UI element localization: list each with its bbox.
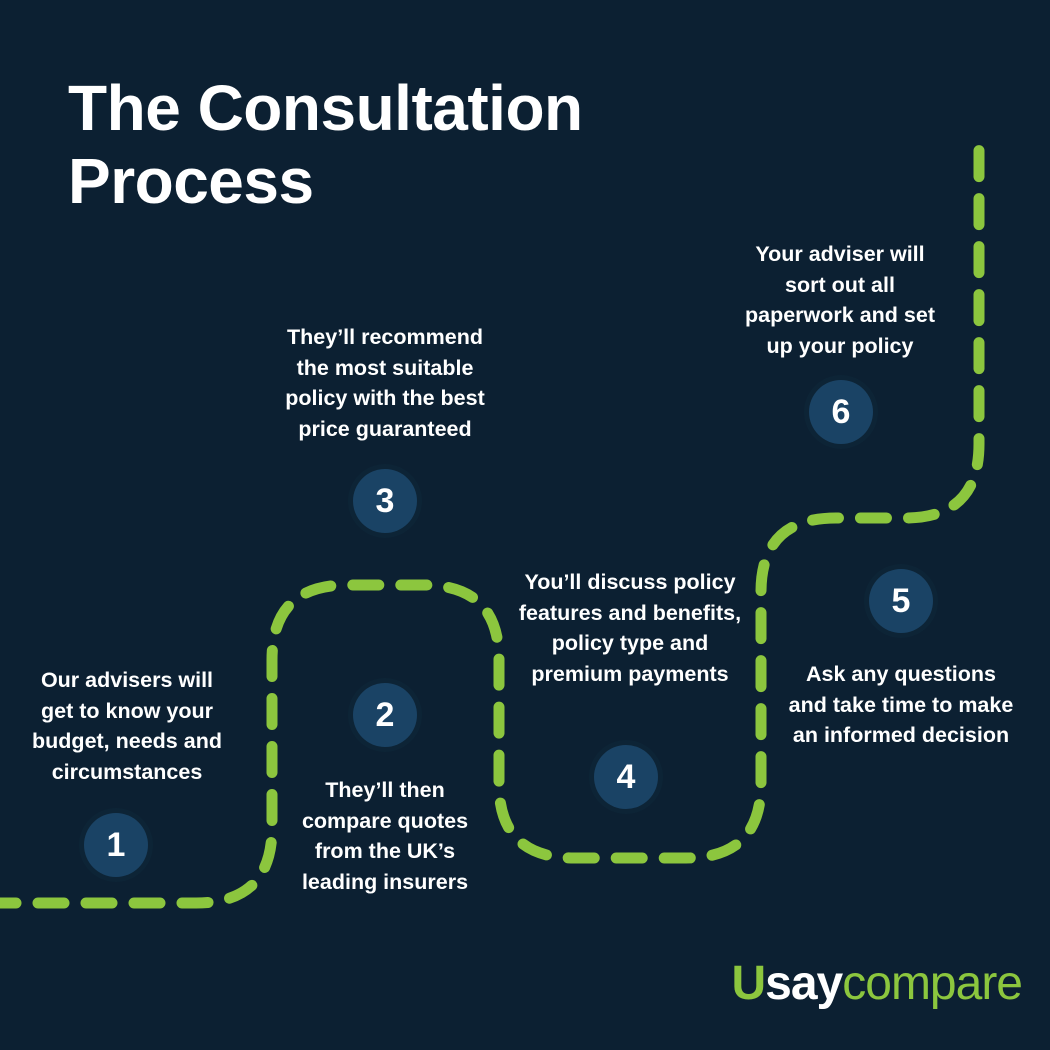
logo-compare: compare	[842, 957, 1022, 1010]
step-3-badge-wrap: 3	[353, 469, 417, 533]
step-1-text: Our advisers will get to know your budge…	[6, 665, 248, 787]
step-5-text: Ask any questions and take time to make …	[775, 659, 1027, 751]
step-1-number-badge: 1	[84, 813, 148, 877]
step-4-text: You’ll discuss policy features and benef…	[505, 567, 755, 689]
step-1: Our advisers will get to know your budge…	[6, 665, 248, 787]
step-2-number-badge: 2	[353, 683, 417, 747]
step-2: They’ll then compare quotes from the UK’…	[272, 775, 498, 897]
page-title: The Consultation Process	[68, 72, 688, 218]
step-1-badge-wrap: 1	[84, 813, 148, 877]
logo-say: say	[765, 957, 842, 1010]
step-6-text: Your adviser will sort out all paperwork…	[716, 239, 964, 361]
step-3-text: They’ll recommend the most suitable poli…	[264, 322, 506, 444]
usaycompare-logo: Usaycompare	[731, 960, 1022, 1008]
logo-u: U	[731, 957, 765, 1010]
step-3: They’ll recommend the most suitable poli…	[264, 322, 506, 444]
step-3-number-badge: 3	[353, 469, 417, 533]
step-4-number-badge: 4	[594, 745, 658, 809]
step-4: You’ll discuss policy features and benef…	[505, 567, 755, 689]
step-5-badge-wrap: 5	[869, 569, 933, 633]
consultation-process-infographic: The Consultation Process Our advisers wi…	[0, 0, 1050, 1050]
step-2-text: They’ll then compare quotes from the UK’…	[272, 775, 498, 897]
step-5-number-badge: 5	[869, 569, 933, 633]
step-2-badge-wrap: 2	[353, 683, 417, 747]
step-4-badge-wrap: 4	[594, 745, 658, 809]
step-6-badge-wrap: 6	[809, 380, 873, 444]
step-6: Your adviser will sort out all paperwork…	[716, 239, 964, 361]
step-5: Ask any questions and take time to make …	[775, 659, 1027, 751]
step-6-number-badge: 6	[809, 380, 873, 444]
